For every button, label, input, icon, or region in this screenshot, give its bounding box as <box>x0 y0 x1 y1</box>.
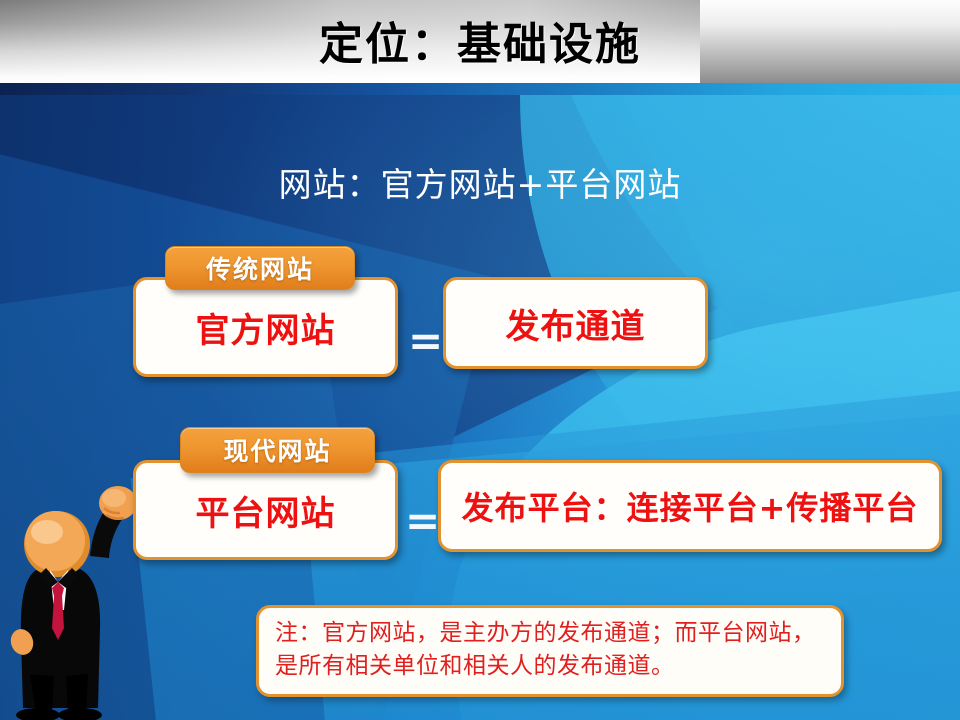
box-official-website-label: 官方网站 <box>196 303 336 352</box>
equals-sign-row-2: = <box>405 500 440 542</box>
slide-canvas: 定位：基础设施 网站：官方网站+平台网站 官方网站 <box>0 0 960 720</box>
box-publishing-channel-label: 发布通道 <box>506 299 646 348</box>
box-platform-website[interactable]: 平台网站 <box>133 460 398 560</box>
badge-modern-website[interactable]: 现代网站 <box>180 427 375 473</box>
note-box: 注：官方网站，是主办方的发布通道；而平台网站，是所有相关单位和相关人的发布通道。 <box>256 605 844 697</box>
box-official-website[interactable]: 官方网站 <box>133 277 398 377</box>
page-title: 定位：基础设施 <box>0 8 960 72</box>
title-underline <box>0 83 960 95</box>
box-publishing-platform[interactable]: 发布平台：连接平台+传播平台 <box>438 460 942 552</box>
note-text: 注：官方网站，是主办方的发布通道；而平台网站，是所有相关单位和相关人的发布通道。 <box>275 617 825 682</box>
equals-sign-row-1: = <box>408 320 443 362</box>
box-publishing-channel[interactable]: 发布通道 <box>443 277 708 369</box>
box-platform-website-label: 平台网站 <box>196 486 336 535</box>
subtitle: 网站：官方网站+平台网站 <box>0 158 960 206</box>
box-publishing-platform-label: 发布平台：连接平台+传播平台 <box>462 483 919 529</box>
badge-traditional-website[interactable]: 传统网站 <box>165 246 355 290</box>
badge-traditional-website-label: 传统网站 <box>206 250 314 286</box>
badge-modern-website-label: 现代网站 <box>223 432 331 468</box>
